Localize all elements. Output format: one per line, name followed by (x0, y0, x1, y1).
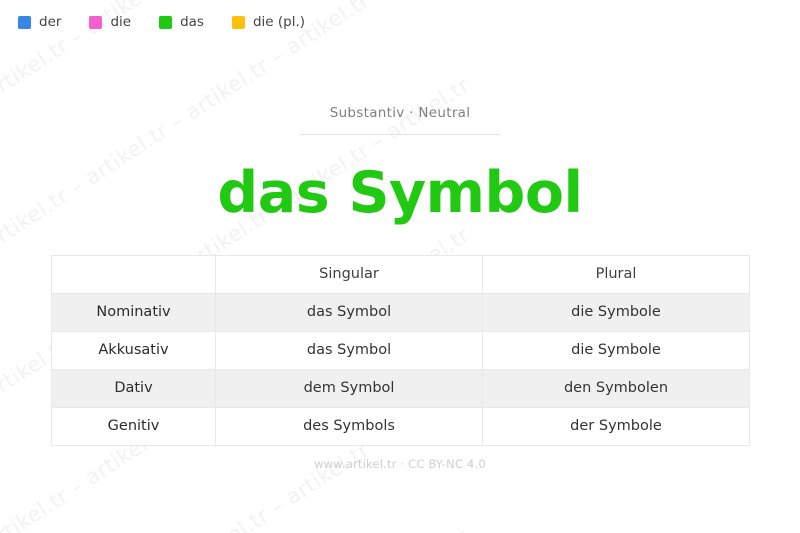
declension-table: Singular Plural Nominativdas Symboldie S… (51, 255, 750, 446)
case-label-cell: Dativ (52, 369, 216, 407)
color-swatch-icon-die-plural (232, 16, 245, 29)
column-header-case (52, 255, 216, 293)
page-title: das Symbol (0, 163, 800, 225)
legend-item-der: der (18, 16, 61, 30)
singular-form-cell: das Symbol (216, 293, 483, 331)
singular-form-cell: des Symbols (216, 407, 483, 445)
legend-label-die: die (110, 16, 131, 30)
plural-form-cell: der Symbole (483, 407, 750, 445)
part-of-speech-line: Substantiv · Neutral (300, 105, 500, 135)
case-label-cell: Genitiv (52, 407, 216, 445)
table-header-row: Singular Plural (52, 255, 750, 293)
case-label-cell: Nominativ (52, 293, 216, 331)
table-body: Nominativdas Symboldie SymboleAkkusativd… (52, 293, 750, 445)
plural-form-cell: die Symbole (483, 331, 750, 369)
legend-label-die-plural: die (pl.) (253, 16, 305, 30)
color-swatch-icon-die (89, 16, 102, 29)
table-row: Genitivdes Symbolsder Symbole (52, 407, 750, 445)
word-card: Substantiv · Neutral das Symbol Singular… (0, 0, 800, 471)
column-header-plural: Plural (483, 255, 750, 293)
singular-form-cell: dem Symbol (216, 369, 483, 407)
legend-item-das: das (159, 16, 204, 30)
table-row: Dativdem Symbolden Symbolen (52, 369, 750, 407)
legend-label-der: der (39, 16, 61, 30)
case-label-cell: Akkusativ (52, 331, 216, 369)
legend-label-das: das (180, 16, 204, 30)
column-header-singular: Singular (216, 255, 483, 293)
declension-table-wrap: Singular Plural Nominativdas Symboldie S… (51, 255, 749, 446)
legend-item-die: die (89, 16, 131, 30)
table-row: Nominativdas Symboldie Symbole (52, 293, 750, 331)
table-header: Singular Plural (52, 255, 750, 293)
article-color-legend: der die das die (pl.) (18, 16, 305, 30)
legend-item-die-plural: die (pl.) (232, 16, 305, 30)
footer-attribution: www.artikel.tr · CC BY-NC 4.0 (0, 457, 800, 471)
color-swatch-icon-das (159, 16, 172, 29)
plural-form-cell: die Symbole (483, 293, 750, 331)
singular-form-cell: das Symbol (216, 331, 483, 369)
part-of-speech-wrap: Substantiv · Neutral (300, 105, 500, 135)
table-row: Akkusativdas Symboldie Symbole (52, 331, 750, 369)
watermark-text: artikel.tr – artikel.tr – artikel.tr – a… (0, 523, 474, 533)
plural-form-cell: den Symbolen (483, 369, 750, 407)
color-swatch-icon-der (18, 16, 31, 29)
